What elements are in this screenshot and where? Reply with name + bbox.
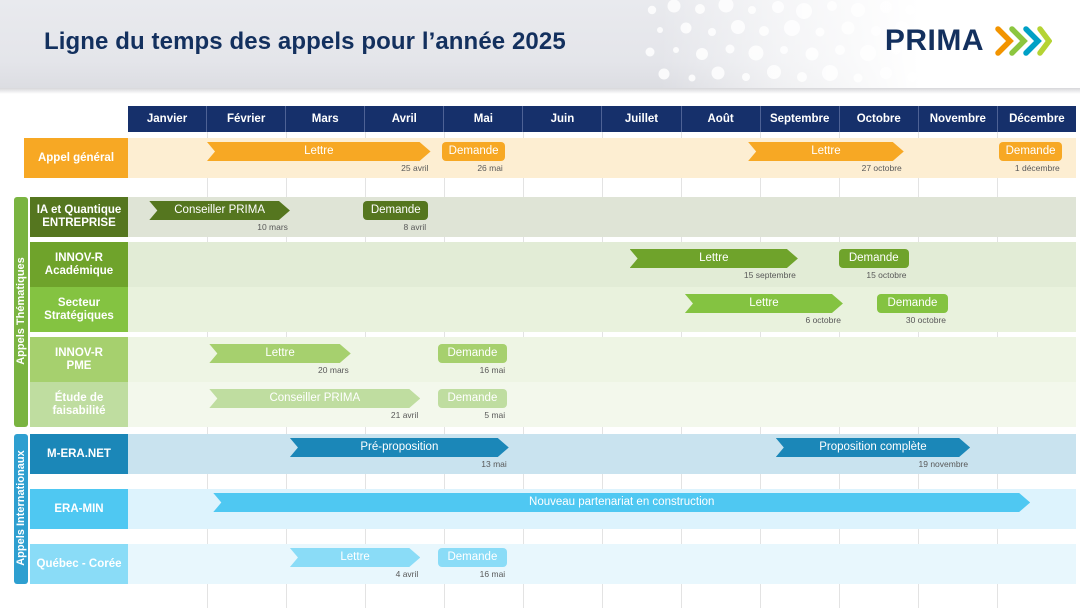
month-header-3: Mars	[286, 106, 365, 132]
row-label-line: Étude de	[55, 392, 104, 405]
month-header-1: Janvier	[128, 106, 207, 132]
row-label-line: Stratégiques	[44, 310, 114, 323]
prima-chevrons-icon	[994, 24, 1052, 58]
deadline-date-m-era-net-2: 19 novembre	[890, 459, 968, 469]
phase-bar-m-era-net-1[interactable]: Pré-proposition	[290, 438, 509, 457]
prima-logo: PRIMA	[885, 24, 1052, 58]
deadline-date-secteur-strategiques-1: 6 octobre	[763, 315, 841, 325]
month-header-7: Juillet	[602, 106, 681, 132]
deadline-date-innov-r-academique-2: 15 octobre	[829, 270, 907, 280]
deadline-date-quebec-coree-1: 4 avril	[340, 569, 418, 579]
phase-bar-appel-general-1[interactable]: Lettre	[207, 142, 431, 161]
month-header-row: JanvierFévrierMarsAvrilMaiJuinJuilletAoû…	[128, 106, 1076, 132]
milestone-badge-quebec-coree-2[interactable]: Demande	[438, 548, 508, 567]
row-label-line: IA et Quantique	[37, 204, 122, 217]
row-label-line: INNOV-R	[55, 252, 103, 265]
timeline-board: JanvierFévrierMarsAvrilMaiJuinJuilletAoû…	[0, 94, 1080, 608]
phase-bar-quebec-coree-1[interactable]: Lettre	[290, 548, 420, 567]
phase-bar-appel-general-3[interactable]: Lettre	[748, 142, 904, 161]
deadline-date-innov-r-academique-1: 15 septembre	[718, 270, 796, 280]
milestone-badge-innov-r-academique-2[interactable]: Demande	[839, 249, 909, 268]
deadline-date-ia-quantique-entreprise-2: 8 avril	[348, 222, 426, 232]
milestone-badge-etude-de-faisabilite-2[interactable]: Demande	[438, 389, 508, 408]
deadline-date-m-era-net-1: 13 mai	[429, 459, 507, 469]
phase-bar-m-era-net-2[interactable]: Proposition complète	[776, 438, 970, 457]
group-label-internationaux: Appels Internationaux	[15, 408, 27, 608]
row-label-secteur-strategiques[interactable]: SecteurStratégiques	[30, 287, 128, 332]
page-title: Ligne du temps des appels pour l’année 2…	[44, 28, 566, 56]
phase-bar-era-min-1[interactable]: Nouveau partenariat en construction	[213, 493, 1030, 512]
phase-bar-secteur-strategiques-1[interactable]: Lettre	[685, 294, 843, 313]
month-header-10: Octobre	[840, 106, 919, 132]
row-label-ia-quantique-entreprise[interactable]: IA et QuantiqueENTREPRISE	[30, 197, 128, 237]
month-header-9: Septembre	[761, 106, 840, 132]
milestone-badge-secteur-strategiques-2[interactable]: Demande	[877, 294, 948, 313]
row-label-line: Québec - Corée	[37, 558, 122, 571]
milestone-badge-appel-general-4[interactable]: Demande	[999, 142, 1061, 161]
deadline-date-appel-general-1: 25 avril	[351, 163, 429, 173]
row-label-quebec-coree[interactable]: Québec - Corée	[30, 544, 128, 584]
deadline-date-secteur-strategiques-2: 30 octobre	[868, 315, 946, 325]
deadline-date-innov-r-pme-1: 20 mars	[271, 365, 349, 375]
deadline-date-innov-r-pme-2: 16 mai	[427, 365, 505, 375]
month-header-11: Novembre	[919, 106, 998, 132]
deadline-date-appel-general-3: 27 octobre	[824, 163, 902, 173]
row-label-line: faisabilité	[52, 405, 105, 418]
milestone-badge-appel-general-2[interactable]: Demande	[442, 142, 504, 161]
deadline-date-etude-de-faisabilite-2: 5 mai	[427, 410, 505, 420]
row-label-line: Académique	[45, 265, 113, 278]
phase-bar-etude-de-faisabilite-1[interactable]: Conseiller PRIMA	[209, 389, 420, 408]
row-label-m-era-net[interactable]: M-ERA.NET	[30, 434, 128, 474]
month-header-2: Février	[207, 106, 286, 132]
row-band-quebec-coree	[128, 544, 1076, 584]
row-band-innov-r-academique	[128, 242, 1076, 287]
month-header-4: Avril	[365, 106, 444, 132]
deadline-date-etude-de-faisabilite-1: 21 avril	[340, 410, 418, 420]
month-header-6: Juin	[523, 106, 602, 132]
row-label-line: M-ERA.NET	[47, 448, 111, 461]
milestone-badge-innov-r-pme-2[interactable]: Demande	[438, 344, 508, 363]
row-label-line: ENTREPRISE	[42, 217, 116, 230]
row-label-era-min[interactable]: ERA-MIN	[30, 489, 128, 529]
row-label-innov-r-pme[interactable]: INNOV-RPME	[30, 337, 128, 382]
row-label-line: Secteur	[58, 297, 100, 310]
month-header-5: Mai	[444, 106, 523, 132]
phase-bar-ia-quantique-entreprise-1[interactable]: Conseiller PRIMA	[149, 201, 290, 220]
logo-text: PRIMA	[885, 24, 984, 58]
row-label-line: ERA-MIN	[54, 503, 103, 516]
month-header-8: Août	[682, 106, 761, 132]
deadline-date-appel-general-2: 26 mai	[425, 163, 503, 173]
phase-bar-innov-r-pme-1[interactable]: Lettre	[209, 344, 350, 363]
row-label-line: PME	[67, 360, 92, 373]
row-label-appel-general[interactable]: Appel général	[24, 138, 128, 178]
page-header: Ligne du temps des appels pour l’année 2…	[0, 0, 1080, 88]
row-label-innov-r-academique[interactable]: INNOV-RAcadémique	[30, 242, 128, 287]
phase-bar-innov-r-academique-1[interactable]: Lettre	[630, 249, 798, 268]
deadline-date-appel-general-4: 1 décembre	[982, 163, 1060, 173]
milestone-badge-ia-quantique-entreprise-2[interactable]: Demande	[363, 201, 428, 220]
row-label-etude-de-faisabilite[interactable]: Étude defaisabilité	[30, 382, 128, 427]
deadline-date-ia-quantique-entreprise-1: 10 mars	[210, 222, 288, 232]
row-label-line: Appel général	[38, 152, 114, 165]
deadline-date-quebec-coree-2: 16 mai	[427, 569, 505, 579]
row-label-line: INNOV-R	[55, 347, 103, 360]
group-label-thematiques: Appels Thématiques	[15, 211, 27, 411]
month-header-12: Décembre	[998, 106, 1076, 132]
